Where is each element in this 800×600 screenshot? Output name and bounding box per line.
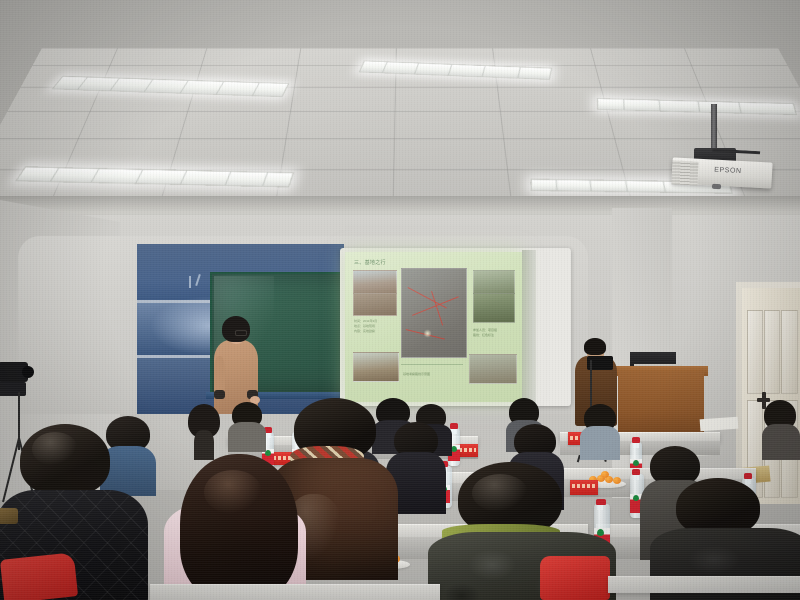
projector-vent-grille: [671, 160, 698, 185]
presenter-glasses: [235, 330, 247, 336]
audience-grey-coat: [228, 402, 266, 448]
fluorescent-fixture-3: [359, 61, 552, 80]
camera-left-lens: [22, 366, 34, 378]
red-bag-left: [0, 552, 78, 600]
presenter-hair: [222, 316, 250, 342]
lecture-hall-photo: EPSON 三、基地之行 时间：2: [0, 0, 800, 600]
presenter-at-chalkboard: [214, 316, 258, 414]
projector-brand-label: EPSON: [714, 167, 742, 175]
red-bag-right: [540, 556, 610, 600]
screen-projection-glare: [345, 252, 522, 402]
presenter-cuff-left: [214, 390, 225, 399]
audience-ponytail: [186, 404, 222, 452]
wooden-podium: [618, 372, 704, 438]
audience-far-right-3: [762, 400, 800, 456]
audience-far-right-2: [580, 404, 620, 456]
jacket-shoulder-patch: [0, 508, 18, 524]
fluorescent-fixture-4: [597, 98, 797, 115]
screen-side-bezel: [522, 250, 536, 404]
desk-row-1b: [608, 576, 800, 593]
fluorescent-fixture-1: [52, 76, 289, 97]
audience-pink-top-long-hair: [162, 454, 308, 600]
projector-lens: [712, 184, 721, 189]
camera-operator-hair: [584, 338, 606, 355]
projection-screen: 三、基地之行 时间：2011年3月 地点：基地现场 内容：实地勘察 参加人员：项…: [345, 252, 522, 402]
desk-row-1: [150, 584, 440, 600]
